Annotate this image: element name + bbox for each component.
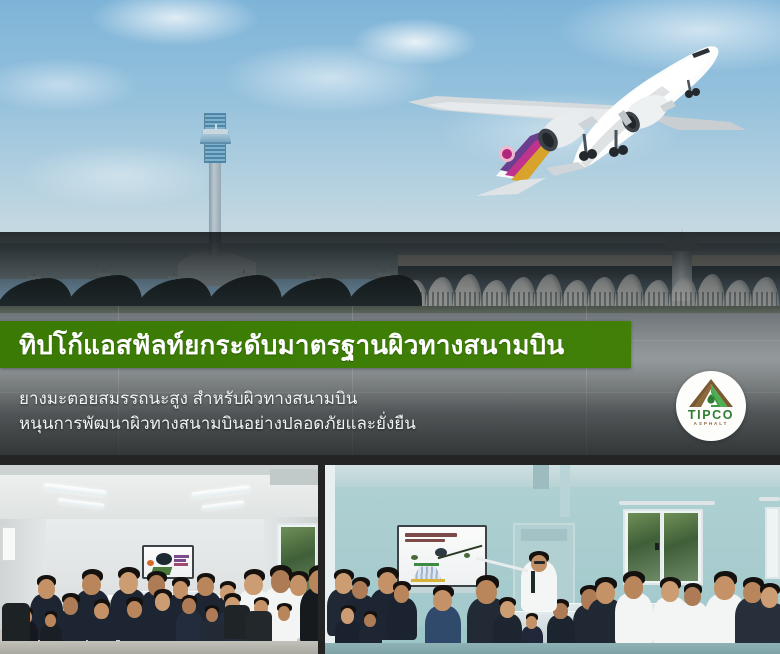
window-mullion xyxy=(660,513,663,581)
photo-presentation-briefing-room xyxy=(325,465,780,654)
secondary-tower-antenna xyxy=(681,229,683,240)
window-latch xyxy=(655,543,659,550)
person-torso xyxy=(300,588,318,644)
person-head xyxy=(119,572,138,594)
notice-board xyxy=(2,527,16,561)
person-head xyxy=(63,597,78,615)
secondary-tower-cab xyxy=(666,239,698,251)
screen-graphic xyxy=(147,560,154,566)
logo-tagline: ASPHALT xyxy=(694,421,729,427)
subtitle-line-2: หนุนการพัฒนาผิวทางสนามบินอย่างปลอดภัยและ… xyxy=(19,411,619,436)
floor xyxy=(325,643,780,654)
logo-wordmark: TIPCO xyxy=(688,409,734,421)
person-head xyxy=(155,593,170,611)
person-head xyxy=(197,577,213,596)
screen-graphic xyxy=(156,553,172,565)
curtain-rail xyxy=(619,501,715,505)
person xyxy=(387,581,417,639)
page-title: ทิปโก้แอสฟัลท์ยกระดับมาตรฐานผิวทางสนามบิ… xyxy=(0,332,564,358)
ceiling-beam xyxy=(533,465,549,489)
person-head xyxy=(182,598,196,614)
photo-row-top-gap xyxy=(0,455,780,465)
photo-group-photo-meeting-room xyxy=(0,465,318,654)
subtitle-line-1: ยางมะตอยสมรรถนะสูง สำหรับผิวทางสนามบิน xyxy=(19,386,619,411)
person-head xyxy=(624,576,644,599)
infographic-page: ทิปโก้แอสฟัลท์ยกระดับมาตรฐานผิวทางสนามบิ… xyxy=(0,0,780,654)
control-tower-antenna xyxy=(215,124,217,130)
person-head xyxy=(526,616,537,629)
person-head xyxy=(433,590,451,611)
presenter-glasses xyxy=(534,561,545,564)
person-head xyxy=(596,582,615,604)
office-chair xyxy=(246,611,272,643)
ceiling-panel xyxy=(270,469,318,485)
tipco-triangle-icon xyxy=(688,378,734,408)
person-head xyxy=(364,614,376,627)
subtitle-block: ยางมะตอยสมรรถนะสูง สำหรับผิวทางสนามบิน ห… xyxy=(19,386,619,436)
person-torso xyxy=(387,598,417,640)
person-head xyxy=(394,585,409,603)
office-chair xyxy=(2,603,30,643)
person-head xyxy=(45,614,56,627)
curtain-rail xyxy=(759,497,780,501)
screen-text-line xyxy=(174,559,186,562)
person xyxy=(300,565,318,643)
departing-aircraft xyxy=(378,18,778,208)
presenter-lanyard xyxy=(531,571,535,593)
person-head xyxy=(714,576,735,600)
screen-subtitle-line xyxy=(405,539,445,542)
person-head xyxy=(38,579,55,599)
person xyxy=(148,589,178,647)
person-head xyxy=(761,587,778,607)
screen-text-line xyxy=(174,555,189,558)
person-head xyxy=(341,608,354,623)
screen-graphic xyxy=(464,553,470,558)
window-glass xyxy=(664,513,698,581)
person xyxy=(615,571,653,645)
headline-banner: ทิปโก้แอสฟัลท์ยกระดับมาตรฐานผิวทางสนามบิ… xyxy=(0,321,631,368)
person-head xyxy=(684,587,700,606)
person-head xyxy=(206,608,218,622)
screen-title-line xyxy=(405,533,457,537)
cabinet-shelf xyxy=(521,529,567,541)
screen-graphic xyxy=(411,555,418,560)
person xyxy=(176,595,203,647)
person-torso xyxy=(615,593,653,646)
person-head xyxy=(500,601,515,618)
person xyxy=(753,583,780,649)
photo-divider xyxy=(318,455,325,654)
ceiling xyxy=(325,465,780,487)
person-head xyxy=(352,581,368,599)
person-head xyxy=(278,606,291,621)
person-head xyxy=(127,601,142,618)
person-head xyxy=(94,603,108,620)
control-tower-cab-glass xyxy=(201,133,230,142)
wall-corner xyxy=(560,465,570,517)
person-head xyxy=(244,574,262,595)
floor xyxy=(0,641,318,654)
screen-caption xyxy=(414,563,440,566)
person-head xyxy=(82,574,100,595)
tipco-asphalt-logo: TIPCO ASPHALT xyxy=(676,371,746,441)
screen-text-line xyxy=(174,563,188,566)
window xyxy=(765,507,780,579)
grass-verge xyxy=(0,306,780,313)
